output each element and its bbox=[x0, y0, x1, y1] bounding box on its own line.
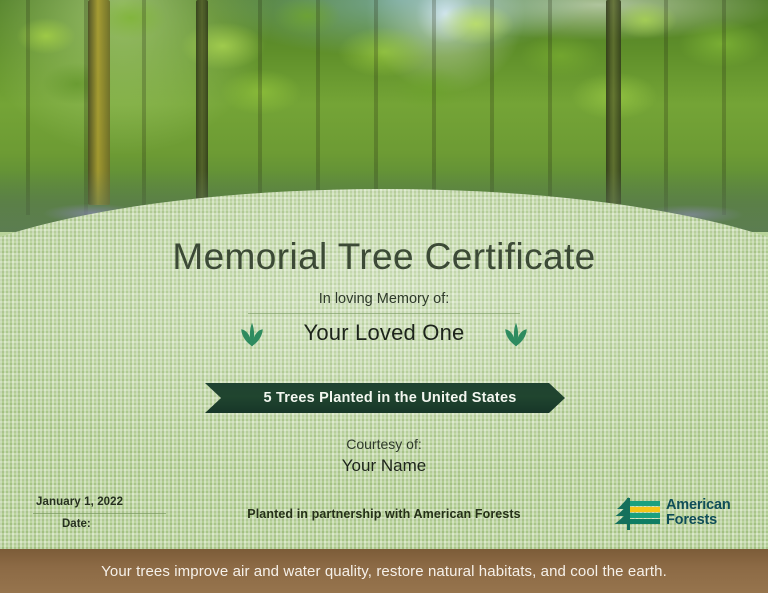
leaf-sprout-icon-right bbox=[501, 318, 531, 348]
trees-planted-text: 5 Trees Planted in the United States bbox=[254, 390, 517, 406]
trees-planted-ribbon: 5 Trees Planted in the United States bbox=[205, 383, 565, 413]
certificate-content: Memorial Tree Certificate In loving Memo… bbox=[0, 0, 768, 549]
courtesy-label: Courtesy of: bbox=[0, 436, 768, 452]
leaf-sprout-icon-left bbox=[237, 318, 267, 348]
american-forests-tree-icon bbox=[614, 496, 660, 530]
page-title: Memorial Tree Certificate bbox=[0, 236, 768, 278]
courtesy-name: Your Name bbox=[0, 456, 768, 476]
american-forests-wordmark: American Forests bbox=[666, 498, 731, 528]
memorial-tree-certificate: Memorial Tree Certificate In loving Memo… bbox=[0, 0, 768, 593]
footer-band: Your trees improve air and water quality… bbox=[0, 549, 768, 593]
honoree-name: Your Loved One bbox=[289, 320, 479, 346]
footer-message: Your trees improve air and water quality… bbox=[101, 563, 667, 580]
logo-line-2: Forests bbox=[666, 513, 731, 528]
american-forests-logo: American Forests bbox=[614, 496, 731, 530]
honoree-row: Your Loved One bbox=[0, 318, 768, 348]
memory-label: In loving Memory of: bbox=[0, 291, 768, 307]
logo-line-1: American bbox=[666, 498, 731, 513]
name-divider-rule bbox=[248, 313, 520, 314]
